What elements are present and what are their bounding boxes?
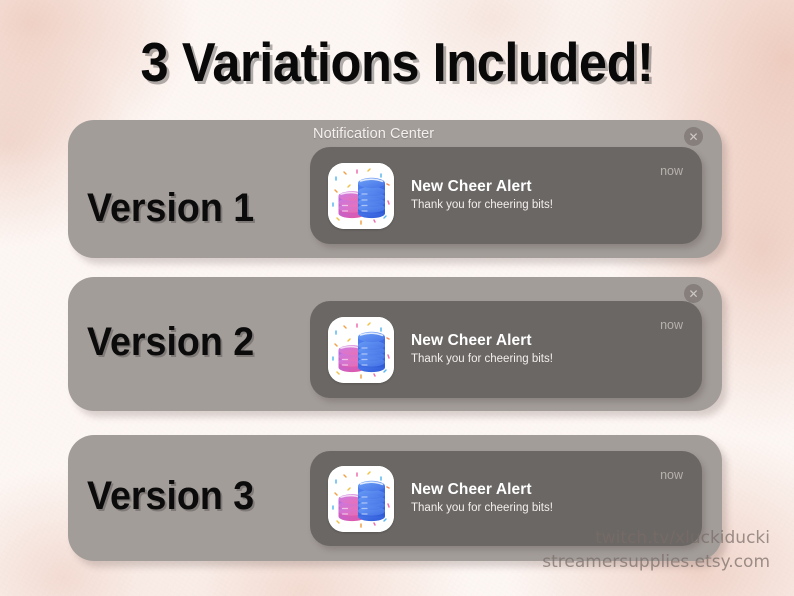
variation-panel-2: Version 2 ✕ xyxy=(68,277,722,411)
notification-title: New Cheer Alert xyxy=(411,332,660,350)
notification-text-2: New Cheer Alert Thank you for cheering b… xyxy=(411,332,660,367)
cheer-bits-coins-icon xyxy=(328,317,394,383)
notification-center-header: Notification Center xyxy=(313,126,434,142)
version-label-3: Version 3 xyxy=(87,476,254,516)
notification-card-2[interactable]: New Cheer Alert Thank you for cheering b… xyxy=(310,301,702,398)
notification-title: New Cheer Alert xyxy=(411,178,660,196)
notification-card-1[interactable]: New Cheer Alert Thank you for cheering b… xyxy=(310,147,702,244)
notification-title: New Cheer Alert xyxy=(411,481,660,499)
notification-timestamp: now xyxy=(660,164,683,178)
version-label-2: Version 2 xyxy=(87,322,254,362)
cheer-bits-coins-icon xyxy=(328,163,394,229)
notification-body: Thank you for cheering bits! xyxy=(411,501,660,516)
notification-timestamp: now xyxy=(660,318,683,332)
close-x-icon[interactable]: ✕ xyxy=(684,284,703,303)
close-x-icon[interactable]: ✕ xyxy=(684,127,703,146)
variation-panel-1: Version 1 Notification Center ✕ xyxy=(68,120,722,258)
watermark-line-etsy: streamersupplies.etsy.com xyxy=(542,550,770,574)
cheer-bits-coins-icon xyxy=(328,466,394,532)
notification-timestamp: now xyxy=(660,468,683,482)
notification-text-1: New Cheer Alert Thank you for cheering b… xyxy=(411,178,660,213)
notification-body: Thank you for cheering bits! xyxy=(411,198,660,213)
page-title: 3 Variations Included! xyxy=(32,31,762,93)
version-label-1: Version 1 xyxy=(87,188,254,228)
watermark-line-twitch: twitch.tv/xluckiducki xyxy=(542,526,770,550)
watermark: twitch.tv/xluckiducki streamersupplies.e… xyxy=(542,526,770,574)
notification-body: Thank you for cheering bits! xyxy=(411,352,660,367)
notification-text-3: New Cheer Alert Thank you for cheering b… xyxy=(411,481,660,516)
